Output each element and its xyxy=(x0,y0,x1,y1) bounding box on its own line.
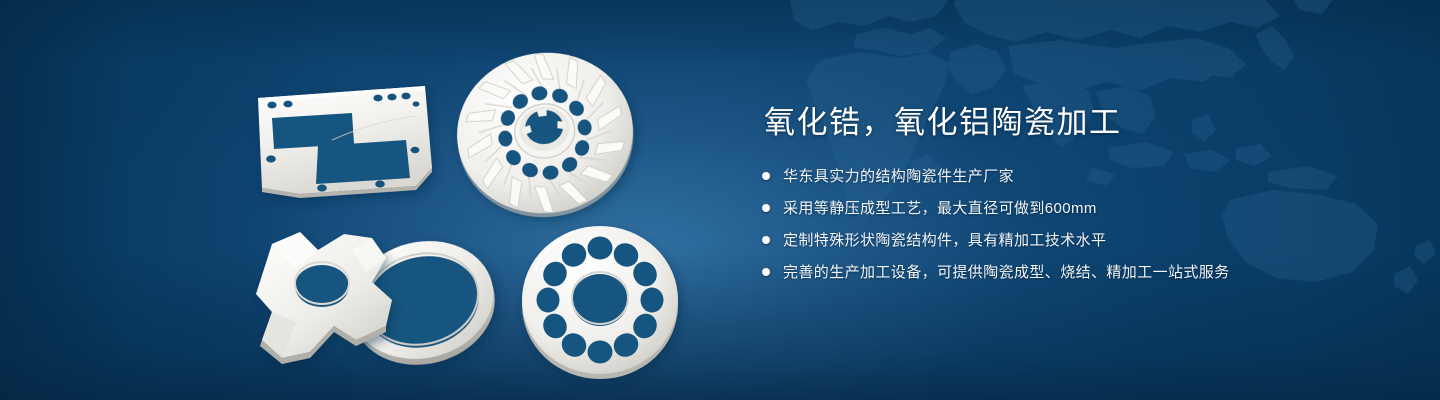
banner-headline: 氧化锆，氧化铝陶瓷加工 xyxy=(764,104,1402,143)
feature-list-item: 完善的生产加工设备，可提供陶瓷成型、烧结、精加工一站式服务 xyxy=(762,261,1402,284)
banner-feature-list: 华东具实力的结构陶瓷件生产厂家 采用等静压成型工艺，最大直径可做到600mm 定… xyxy=(762,165,1402,284)
bullet-dot-icon xyxy=(762,204,770,212)
ceramic-perforated-disc xyxy=(522,226,678,379)
hero-banner: 氧化锆，氧化铝陶瓷加工 华东具实力的结构陶瓷件生产厂家 采用等静压成型工艺，最大… xyxy=(0,0,1440,400)
feature-text: 定制特殊形状陶瓷结构件，具有精加工技术水平 xyxy=(783,233,1106,248)
bullet-dot-icon xyxy=(762,172,770,180)
feature-text: 完善的生产加工设备，可提供陶瓷成型、烧结、精加工一站式服务 xyxy=(783,265,1230,280)
feature-text: 华东具实力的结构陶瓷件生产厂家 xyxy=(783,169,1014,184)
banner-copy: 氧化锆，氧化铝陶瓷加工 华东具实力的结构陶瓷件生产厂家 采用等静压成型工艺，最大… xyxy=(762,104,1402,284)
ceramic-plate-with-cutouts xyxy=(258,86,432,198)
ceramic-products-image xyxy=(0,0,740,400)
feature-list-item: 采用等静压成型工艺，最大直径可做到600mm xyxy=(762,197,1402,220)
feature-list-item: 定制特殊形状陶瓷结构件，具有精加工技术水平 xyxy=(762,229,1402,252)
feature-list-item: 华东具实力的结构陶瓷件生产厂家 xyxy=(762,165,1402,188)
bullet-dot-icon xyxy=(762,236,770,244)
bullet-dot-icon xyxy=(762,268,770,276)
feature-text: 采用等静压成型工艺，最大直径可做到600mm xyxy=(783,201,1097,216)
ceramic-impeller-disc xyxy=(447,41,644,228)
